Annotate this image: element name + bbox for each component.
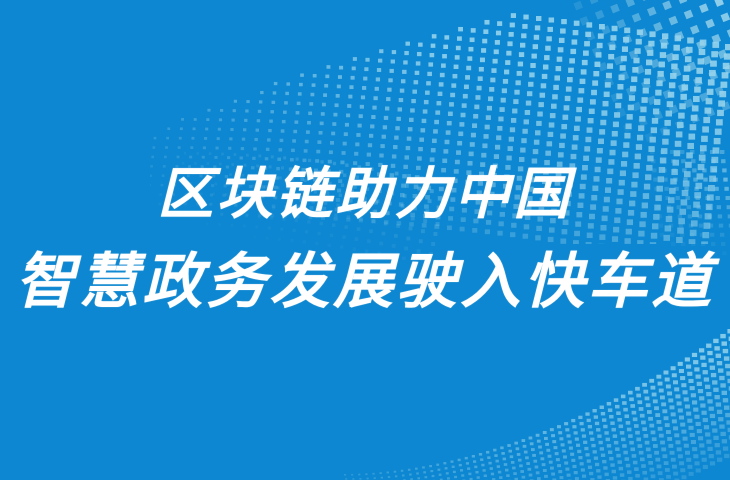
headline-block: 区块链助力中国 智慧政务发展驶入快车道 [0,0,730,480]
poster-banner: 区块链助力中国 智慧政务发展驶入快车道 [0,0,730,480]
headline-line-1: 区块链助力中国 [157,166,573,225]
headline-line-2: 智慧政务发展驶入快车道 [15,251,715,314]
